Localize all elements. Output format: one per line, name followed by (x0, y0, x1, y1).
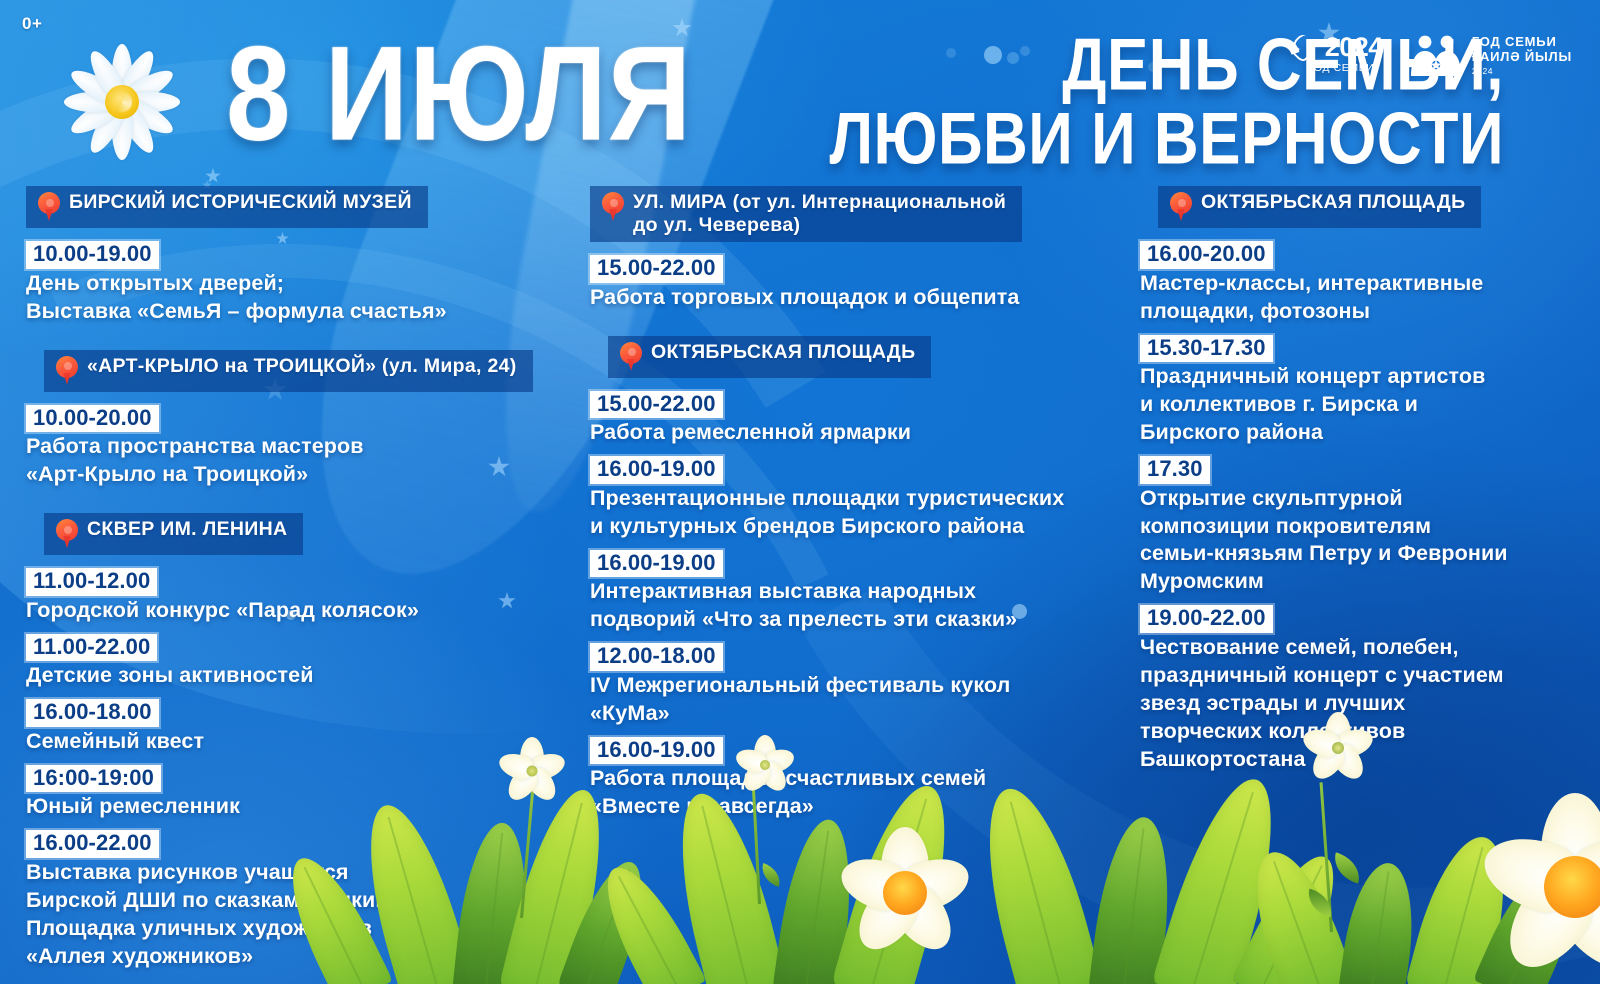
event-description: Интерактивная выставка народных подворий… (590, 578, 1135, 634)
leaf-decor (1304, 889, 1337, 918)
event-time-badge: 11.00-12.00 (26, 568, 157, 596)
schedule-event: 16.00-19.00Работа площадки счастливых се… (590, 730, 1135, 822)
schedule-event: 15.00-22.00Работа ремесленной ярмарки (590, 384, 1135, 448)
event-date: 8 ИЮЛЯ (226, 26, 692, 161)
family-logo-year: 2024 (1472, 67, 1572, 77)
leaf-decor (1231, 844, 1353, 984)
heart-icon (1295, 32, 1326, 63)
location-header: СКВЕР ИМ. ЛЕНИНА (44, 513, 303, 555)
event-time-badge: 16.00-20.00 (1140, 241, 1273, 269)
family-logo-line2: ҒАИЛӘ ЙЫЛЫ (1472, 50, 1572, 65)
event-description: Работа пространства мастеров «Арт-Крыло … (26, 433, 571, 489)
event-description: Семейный квест (26, 728, 571, 756)
logo-year-number: 2024 (1325, 34, 1383, 61)
map-pin-icon (602, 192, 624, 222)
family-icon (1409, 34, 1463, 78)
family-year-logo: ГОД СЕМЬИ ҒАИЛӘ ЙЫЛЫ 2024 (1409, 34, 1572, 78)
event-description: Работа торговых площадок и общепита (590, 284, 1135, 312)
event-time-badge: 15.00-22.00 (590, 255, 723, 283)
blossom-large (1470, 782, 1600, 984)
event-description: Открытие скульптурной композиции покрови… (1140, 485, 1590, 597)
location-header: ОКТЯБРЬСКАЯ ПЛОЩАДЬ (1158, 186, 1481, 228)
map-pin-icon (1170, 192, 1192, 222)
event-time-badge: 16.00-19.00 (590, 550, 723, 578)
event-time-badge: 12.00-18.00 (590, 643, 723, 671)
schedule-event: 16.00-22.00Выставка рисунков учащихся Би… (26, 823, 571, 970)
event-time-badge: 16.00-19.00 (590, 737, 723, 765)
event-description: Праздничный концерт артистов и коллектив… (1140, 363, 1590, 447)
schedule-event: 11.00-22.00Детские зоны активностей (26, 627, 571, 691)
event-description: Юный ремесленник (26, 793, 571, 821)
daisy-core (105, 85, 139, 119)
family-logo-line1: ГОД СЕМЬИ (1472, 35, 1572, 50)
event-description: Презентационные площадки туристических и… (590, 485, 1135, 541)
map-pin-icon (620, 342, 642, 372)
event-description: Работа площадки счастливых семей «Вместе… (590, 765, 1135, 821)
event-time-badge: 16.00-18.00 (26, 699, 159, 727)
map-pin-icon (38, 192, 60, 222)
map-pin-icon (56, 519, 78, 549)
event-description: IV Межрегиональный фестиваль кукол «КуМа… (590, 672, 1135, 728)
leaf-decor (589, 855, 707, 984)
event-time-badge: 15.00-22.00 (590, 391, 723, 419)
event-time-badge: 10.00-19.00 (26, 241, 159, 269)
location-header: ОКТЯБРЬСКАЯ ПЛОЩАДЬ (608, 336, 931, 378)
schedule-event: 16.00-20.00Мастер-классы, интерактивные … (1140, 234, 1590, 326)
leaf-decor (772, 815, 862, 984)
leaf-decor (1338, 859, 1422, 984)
schedule-event: 12.00-18.00IV Межрегиональный фестиваль … (590, 636, 1135, 728)
schedule-event: 16.00-19.00Интерактивная выставка народн… (590, 543, 1135, 635)
section-gap (26, 491, 571, 513)
schedule-column-left: БИРСКИЙ ИСТОРИЧЕСКИЙ МУЗЕЙ10.00-19.00Ден… (26, 186, 571, 973)
event-time-badge: 16:00-19:00 (26, 765, 161, 793)
leaf-decor (1237, 841, 1356, 984)
event-description: День открытых дверей; Выставка «СемьЯ – … (26, 270, 571, 326)
poster-canvas: 0+ 8 ИЮЛЯ ДЕНЬ СЕМЬИ, ЛЮБВИ И ВЕРНОСТИ (0, 0, 1600, 984)
schedule-event: 10.00-20.00Работа пространства мастеров … (26, 398, 571, 490)
location-header: УЛ. МИРА (от ул. Интернациональной до ул… (590, 186, 1022, 242)
leaf-decor (758, 863, 784, 887)
schedule-event: 16.00-18.00Семейный квест (26, 692, 571, 756)
event-description: Чествование семей, полебен, праздничный … (1140, 634, 1590, 774)
schedule-event: 15.30-17.30Праздничный концерт артистов … (1140, 328, 1590, 447)
event-time-badge: 16.00-19.00 (590, 456, 723, 484)
blossom-large (830, 818, 980, 968)
location-name: ОКТЯБРЬСКАЯ ПЛОЩАДЬ (651, 341, 915, 364)
daisy-flower-icon (48, 28, 196, 176)
leaf-decor (558, 853, 659, 984)
leaf-decor (1152, 768, 1296, 984)
event-description: Мастер-классы, интерактивные площадки, ф… (1140, 270, 1590, 326)
poster-header: 8 ИЮЛЯ ДЕНЬ СЕМЬИ, ЛЮБВИ И ВЕРНОСТИ 2024… (0, 0, 1600, 182)
flower-stem (1320, 782, 1333, 932)
schedule-event: 19.00-22.00Чествование семей, полебен, п… (1140, 598, 1590, 773)
event-time-badge: 11.00-22.00 (26, 634, 157, 662)
leaf-decor (1329, 852, 1364, 883)
logo-year-caption: ГОД СЕМЬИ (1300, 63, 1383, 74)
section-gap (26, 328, 571, 350)
map-pin-icon (56, 356, 78, 386)
poster-title-line2: ЛЮБВИ И ВЕРНОСТИ (830, 103, 1505, 178)
leaf-decor (1405, 827, 1522, 984)
event-time-badge: 15.30-17.30 (1140, 335, 1273, 363)
schedule-event: 17.30Открытие скульптурной композиции по… (1140, 449, 1590, 596)
schedule-column-middle: УЛ. МИРА (от ул. Интернациональной до ул… (590, 186, 1135, 823)
leaf-decor (1088, 813, 1179, 984)
schedule-column-right: ОКТЯБРЬСКАЯ ПЛОЩАДЬ16.00-20.00Мастер-кла… (1140, 186, 1590, 776)
event-time-badge: 19.00-22.00 (1140, 605, 1273, 633)
year-of-family-logo: 2024 ГОД СЕМЬИ (1300, 34, 1383, 74)
location-name: УЛ. МИРА (от ул. Интернациональной до ул… (633, 191, 1006, 236)
location-header: БИРСКИЙ ИСТОРИЧЕСКИЙ МУЗЕЙ (26, 186, 428, 228)
logo-group: 2024 ГОД СЕМЬИ ГОД СЕМЬИ (1300, 34, 1572, 78)
schedule-event: 11.00-12.00Городской конкурс «Парад коля… (26, 561, 571, 625)
event-time-badge: 16.00-22.00 (26, 830, 159, 858)
leaf-decor (1473, 852, 1594, 984)
location-header: «АРТ-КРЫЛО на ТРОИЦКОЙ» (ул. Мира, 24) (44, 350, 533, 392)
event-description: Городской конкурс «Парад колясок» (26, 597, 571, 625)
location-name: СКВЕР ИМ. ЛЕНИНА (87, 518, 287, 541)
schedule-event: 16:00-19:00Юный ремесленник (26, 758, 571, 822)
event-description: Детские зоны активностей (26, 662, 571, 690)
event-time-badge: 10.00-20.00 (26, 405, 159, 433)
schedule-event: 16.00-19.00Презентационные площадки тури… (590, 449, 1135, 541)
location-name: «АРТ-КРЫЛО на ТРОИЦКОЙ» (ул. Мира, 24) (87, 355, 517, 378)
event-description: Выставка рисунков учащихся Бирской ДШИ п… (26, 859, 571, 971)
event-description: Работа ремесленной ярмарки (590, 419, 1135, 447)
event-time-badge: 17.30 (1140, 456, 1210, 484)
schedule-event: 15.00-22.00Работа торговых площадок и об… (590, 248, 1135, 312)
section-gap (590, 314, 1135, 336)
schedule-event: 10.00-19.00День открытых дверей; Выставк… (26, 234, 571, 326)
location-name: ОКТЯБРЬСКАЯ ПЛОЩАДЬ (1201, 191, 1465, 214)
location-name: БИРСКИЙ ИСТОРИЧЕСКИЙ МУЗЕЙ (69, 191, 412, 214)
